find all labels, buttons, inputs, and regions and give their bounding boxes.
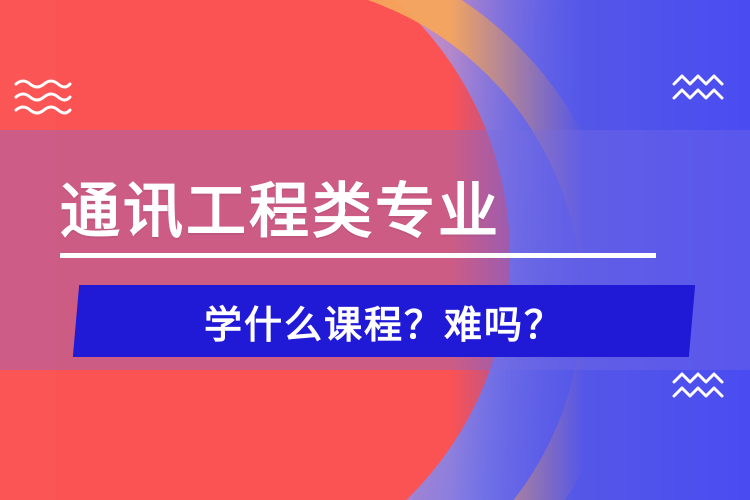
title-block: 通讯工程类专业 <box>60 180 692 258</box>
promo-banner: 通讯工程类专业 学什么课程？难吗？ <box>0 0 750 500</box>
wavy-lines-icon <box>14 78 72 125</box>
title-underline <box>60 253 656 258</box>
zigzag-lines-icon <box>672 72 728 111</box>
banner-subtitle: 学什么课程？难吗？ <box>76 285 692 357</box>
banner-title: 通讯工程类专业 <box>60 180 692 245</box>
zigzag-lines-icon-bottom <box>672 370 728 409</box>
